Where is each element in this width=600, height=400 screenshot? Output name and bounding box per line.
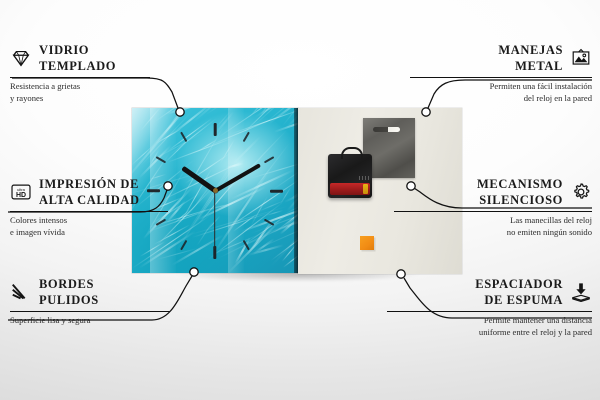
arrow-down-pad-icon [570,281,592,303]
feature-heading: MECANISMO SILENCIOSO [377,176,592,208]
mechanism-hanging-loop [341,147,363,159]
ultra-hd-icon-text-bottom: HD [16,192,26,199]
feature-heading: VIDRIO TEMPLADO [10,42,200,74]
diagonal-stripes-icon [10,281,32,303]
ultra-hd-icon: ultra HD [10,181,32,203]
feature-desc-line1: Superficie lisa y segura [10,315,210,327]
feature-desc-line2: y rayones [10,93,200,105]
feature-title-line2: PULIDOS [39,292,99,308]
feature-vidrio-templado[interactable]: VIDRIO TEMPLADO Resistencia a grietas y … [10,42,200,105]
diamond-icon [10,47,32,69]
feature-heading: ESPACIADOR DE ESPUMA [377,276,592,308]
feature-divider [387,311,592,312]
clock-center-pin [213,188,218,193]
feature-desc-line1: Resistencia a grietas [10,81,200,93]
feature-desc-line2: del reloj en la pared [377,93,592,105]
feature-divider [410,77,592,78]
picture-hanger-icon [570,47,592,69]
feature-desc-line1: Colores intensos [10,215,210,227]
feature-divider [394,211,592,212]
foam-spacer [360,236,374,250]
feature-title-line1: VIDRIO [39,42,116,58]
infographic-canvas: VIDRIO TEMPLADO Resistencia a grietas y … [0,0,600,400]
feature-desc-line2: no emiten ningún sonido [377,227,592,239]
feature-desc-line1: Permiten una fácil instalación [377,81,592,93]
feature-desc-line2: uniforme entre el reloj y la pared [377,327,592,339]
hanger-slot [373,127,400,132]
feature-mecanismo-silencioso[interactable]: MECANISMO SILENCIOSO Las manecillas del … [377,176,592,239]
feature-divider [10,77,150,78]
feature-impresion-alta-calidad[interactable]: ultra HD IMPRESIÓN DE ALTA CALIDAD Color… [10,176,210,239]
feature-desc-line2: e imagen vívida [10,227,210,239]
clock-tick [270,189,283,192]
feature-title-line1: ESPACIADOR [475,276,563,292]
gear-icon [570,181,592,203]
feature-title-line1: IMPRESIÓN DE [39,176,140,192]
feature-divider [10,311,170,312]
feature-bordes-pulidos[interactable]: BORDES PULIDOS Superficie lisa y segura [10,276,210,327]
feature-manejas-metal[interactable]: MANEJAS METAL Permiten una fácil instala… [377,42,592,105]
feature-title-line1: MECANISMO [477,176,563,192]
feature-heading: ultra HD IMPRESIÓN DE ALTA CALIDAD [10,176,210,208]
feature-title-line2: SILENCIOSO [477,192,563,208]
feature-desc-line1: Las manecillas del reloj [377,215,592,227]
feature-title-line2: METAL [498,58,563,74]
feature-title-line2: DE ESPUMA [475,292,563,308]
feature-desc-line1: Permite mantener una distancia [377,315,592,327]
mechanism-detail [359,176,369,180]
clock-tick [214,123,217,136]
feature-divider [10,211,168,212]
feature-title-line2: ALTA CALIDAD [39,192,140,208]
feature-title-line2: TEMPLADO [39,58,116,74]
clock-mechanism [328,154,372,198]
feature-title-line1: BORDES [39,276,99,292]
feature-espaciador-de-espuma[interactable]: ESPACIADOR DE ESPUMA Permite mantener un… [377,276,592,339]
battery [330,183,370,195]
feature-heading: MANEJAS METAL [377,42,592,74]
feature-heading: BORDES PULIDOS [10,276,210,308]
feature-title-line1: MANEJAS [498,42,563,58]
